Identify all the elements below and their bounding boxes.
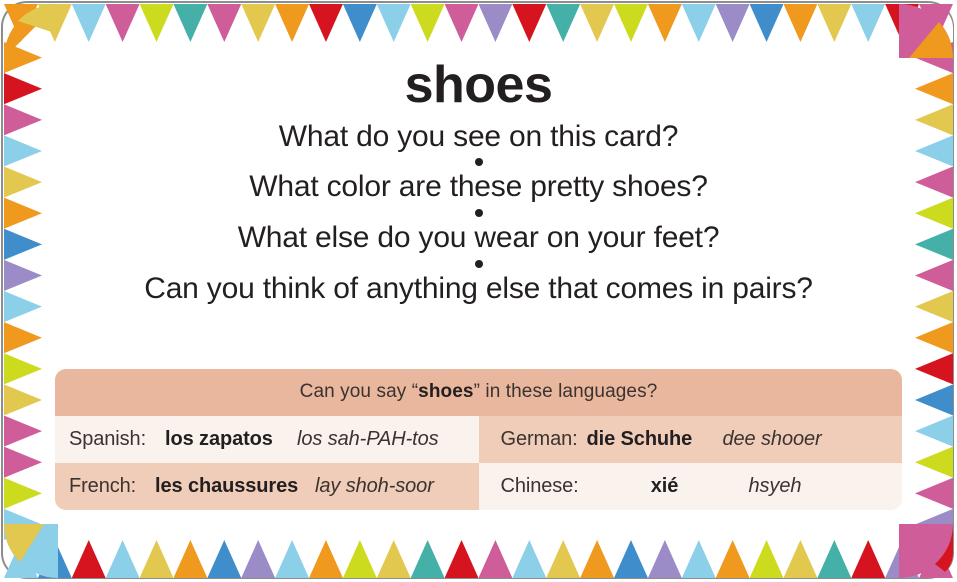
border-triangle-lightblue	[275, 540, 309, 578]
border-triangle-red	[445, 540, 479, 578]
border-triangle-purple	[241, 540, 275, 578]
language-word: les chaussures	[155, 475, 315, 498]
border-triangle-blue	[750, 4, 784, 42]
border-triangle-orange	[173, 540, 207, 578]
border-triangle-blue	[207, 540, 241, 578]
border-triangle-orange	[4, 322, 42, 353]
border-triangle-teal	[817, 540, 851, 578]
border-triangle-pink	[106, 4, 140, 42]
border-triangle-yellowgreen	[140, 4, 174, 42]
question-line: What else do you wear on your feet?	[42, 218, 915, 258]
border-triangle-red	[851, 540, 885, 578]
language-row-spanish: Spanish: los zapatos los sah-PAH-tos	[55, 416, 479, 463]
border-triangle-pink	[915, 260, 953, 291]
border-triangle-pink	[207, 4, 241, 42]
border-triangle-orange	[783, 4, 817, 42]
language-table-header: Can you say “shoes” in these languages?	[55, 369, 902, 416]
header-keyword: shoes	[418, 381, 473, 402]
border-triangle-gold	[915, 291, 953, 322]
border-triangle-pink	[915, 167, 953, 198]
border-triangle-orange	[716, 540, 750, 578]
border-triangle-purple	[4, 260, 42, 291]
language-row-chinese: Chinese: xié hsyeh	[479, 463, 903, 510]
border-bottom-triangles	[4, 540, 953, 578]
language-table: Can you say “shoes” in these languages? …	[55, 369, 902, 510]
border-triangle-pink	[4, 104, 42, 135]
border-triangle-lightblue	[4, 135, 42, 166]
border-triangle-blue	[614, 540, 648, 578]
border-triangle-pink	[478, 540, 512, 578]
border-triangle-lightblue	[682, 4, 716, 42]
border-triangle-gold	[783, 540, 817, 578]
bullet-dot-icon	[475, 158, 483, 166]
border-triangle-yellowgreen	[4, 353, 42, 384]
language-word: die Schuhe	[587, 428, 723, 451]
border-triangle-orange	[915, 73, 953, 104]
border-triangle-lightblue	[106, 540, 140, 578]
page-title: shoes	[42, 58, 915, 113]
border-triangle-yellowgreen	[915, 447, 953, 478]
border-triangle-lightblue	[851, 4, 885, 42]
border-triangle-orange	[309, 540, 343, 578]
language-label: French:	[69, 475, 155, 498]
border-triangle-purple	[716, 4, 750, 42]
border-triangle-blue	[343, 4, 377, 42]
question-line: What color are these pretty shoes?	[42, 167, 915, 207]
border-triangle-yellowgreen	[411, 4, 445, 42]
border-triangle-gold	[915, 104, 953, 135]
border-triangle-yellowgreen	[4, 478, 42, 509]
border-triangle-lightblue	[915, 416, 953, 447]
language-rows: Spanish: los zapatos los sah-PAH-tos Ger…	[55, 416, 902, 510]
language-word: xié	[597, 475, 733, 498]
flashcard: shoes What do you see on this card? What…	[0, 0, 957, 582]
bullet-dot-icon	[475, 260, 483, 268]
border-triangle-pink	[445, 4, 479, 42]
border-triangle-yellowgreen	[915, 198, 953, 229]
border-triangle-lightblue	[72, 4, 106, 42]
border-triangle-blue	[915, 384, 953, 415]
language-label: Chinese:	[501, 475, 597, 498]
language-word: los zapatos	[165, 428, 297, 451]
border-triangle-blue	[4, 229, 42, 260]
border-triangle-purple	[648, 540, 682, 578]
header-suffix: ” in these languages?	[474, 381, 658, 402]
card-content: shoes What do you see on this card? What…	[42, 42, 915, 540]
language-pronunciation: hsyeh	[749, 475, 802, 498]
border-triangle-lightblue	[512, 540, 546, 578]
border-triangle-pink	[4, 416, 42, 447]
border-triangle-pink	[915, 478, 953, 509]
border-triangle-teal	[546, 4, 580, 42]
border-triangle-gold	[4, 167, 42, 198]
language-pronunciation: los sah-PAH-tos	[297, 428, 439, 451]
border-triangle-orange	[580, 540, 614, 578]
question-line: Can you think of anything else that come…	[42, 269, 915, 309]
border-right-triangles	[915, 42, 953, 540]
border-triangle-orange	[648, 4, 682, 42]
border-triangle-teal	[915, 229, 953, 260]
border-triangle-gold	[4, 384, 42, 415]
border-triangle-lightblue	[915, 135, 953, 166]
border-triangle-yellowgreen	[750, 540, 784, 578]
border-triangle-red	[72, 540, 106, 578]
border-triangle-gold	[377, 540, 411, 578]
border-triangle-red	[4, 73, 42, 104]
language-pronunciation: dee shooer	[723, 428, 822, 451]
border-left-triangles	[4, 42, 42, 540]
border-triangle-purple	[478, 4, 512, 42]
language-label: German:	[501, 428, 587, 451]
border-triangle-gold	[580, 4, 614, 42]
border-triangle-red	[512, 4, 546, 42]
border-triangle-gold	[546, 540, 580, 578]
bullet-dot-icon	[475, 209, 483, 217]
border-triangle-orange	[275, 4, 309, 42]
border-triangle-yellowgreen	[343, 540, 377, 578]
border-top-triangles	[4, 4, 953, 42]
border-triangle-yellowgreen	[614, 4, 648, 42]
border-triangle-lightblue	[377, 4, 411, 42]
border-triangle-gold	[817, 4, 851, 42]
border-triangle-lightblue	[682, 540, 716, 578]
language-row-german: German: die Schuhe dee shooer	[479, 416, 903, 463]
border-triangle-teal	[173, 4, 207, 42]
header-prefix: Can you say “	[300, 381, 419, 402]
language-pronunciation: lay shoh-soor	[315, 475, 434, 498]
language-row-french: French: les chaussures lay shoh-soor	[55, 463, 479, 510]
border-triangle-orange	[915, 322, 953, 353]
question-line: What do you see on this card?	[42, 117, 915, 157]
border-triangle-gold	[140, 540, 174, 578]
question-list: What do you see on this card? What color…	[42, 117, 915, 310]
border-triangle-pink	[4, 447, 42, 478]
border-triangle-red	[915, 353, 953, 384]
border-triangle-gold	[241, 4, 275, 42]
border-triangle-teal	[411, 540, 445, 578]
border-triangle-lightblue	[4, 291, 42, 322]
border-triangle-orange	[4, 198, 42, 229]
border-triangle-red	[309, 4, 343, 42]
language-label: Spanish:	[69, 428, 165, 451]
